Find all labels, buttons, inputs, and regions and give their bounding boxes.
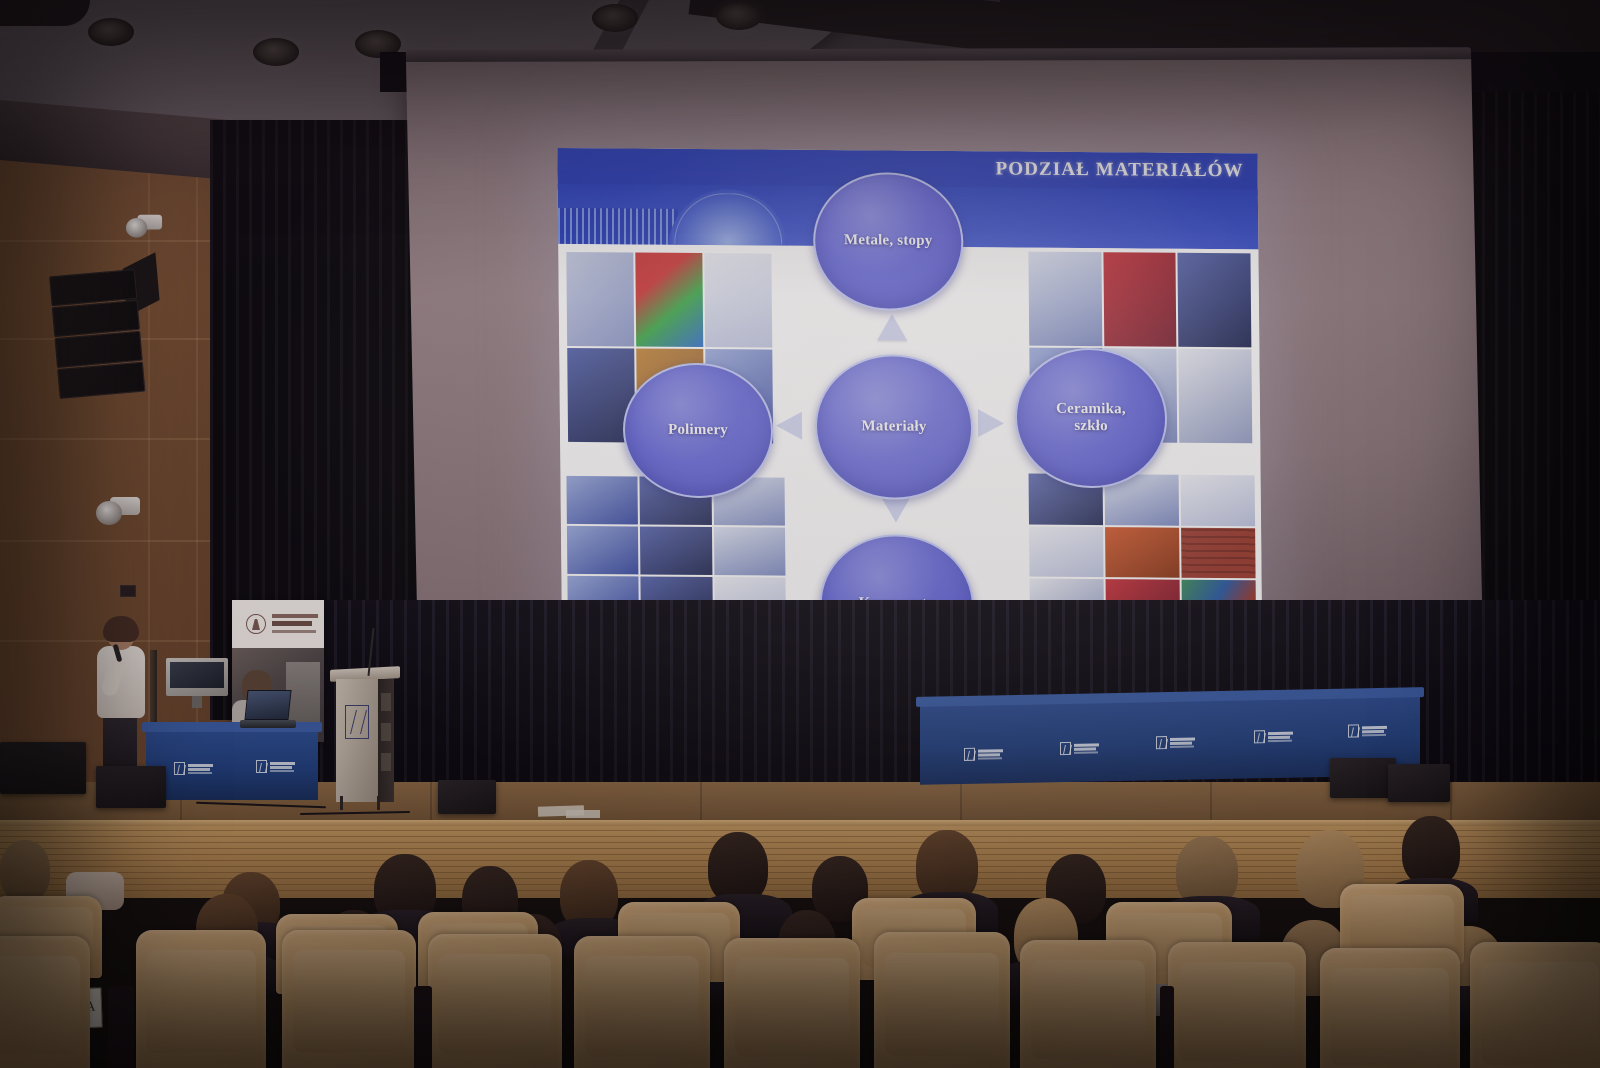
arrow-right-icon <box>978 409 1004 437</box>
floor-monitor-speaker <box>1330 758 1396 798</box>
photo-plastic-toys <box>635 253 703 348</box>
node-metals-label: Metale, stopy <box>844 233 933 251</box>
auditorium-seat <box>1470 942 1600 1068</box>
photo-engine-block <box>1105 527 1180 578</box>
lectern <box>336 668 394 802</box>
photo-fighter-jet <box>1028 252 1102 347</box>
node-ceramics-label: Ceramika, szkło <box>1056 401 1126 436</box>
downlight-icon <box>88 18 134 46</box>
auditorium-seat <box>282 930 416 1068</box>
photo-bricks <box>1181 527 1256 578</box>
auditorium-seat <box>1020 940 1156 1068</box>
downlight-icon <box>592 4 638 32</box>
university-logo-icon <box>174 762 214 775</box>
downlight-icon <box>253 38 299 66</box>
banner-logo-icon <box>246 614 266 634</box>
university-logo-icon <box>1156 736 1196 750</box>
node-ceramics-line2: szkło <box>1056 418 1126 436</box>
photo-sanitary-ware <box>1029 526 1104 577</box>
auditorium-seat <box>1168 942 1306 1068</box>
stage-monitor-display <box>166 658 228 708</box>
stadium-grille-photo <box>558 208 678 249</box>
auditorium-scene: PODZIAŁ MATERIAŁÓW <box>0 0 1600 1068</box>
auditorium-seat <box>136 930 266 1068</box>
node-ceramics-line1: Ceramika, <box>1056 401 1126 419</box>
node-polymers-label: Polimery <box>668 422 728 440</box>
photo-food-packaging <box>566 252 634 347</box>
photo-industrial-rig <box>567 526 639 575</box>
lectern-logo-icon <box>345 705 369 739</box>
photo-machinery <box>1103 252 1177 347</box>
stadium-dome-photo <box>668 189 789 250</box>
node-materials-center: Materiały <box>814 354 973 500</box>
seat-gap <box>1160 986 1174 1068</box>
line-array-speaker <box>49 268 157 416</box>
seat-gap <box>414 986 432 1068</box>
photo-athlete <box>640 526 712 575</box>
auditorium-seat <box>574 936 710 1068</box>
university-logo-icon <box>1060 741 1100 755</box>
floor-monitor-speaker <box>1388 764 1450 802</box>
university-logo-icon <box>1348 724 1388 738</box>
wall-fixture <box>120 585 136 597</box>
downlight-icon <box>716 2 762 30</box>
photo-prosthetic-leg <box>566 476 638 525</box>
stage-paper-sheet <box>566 810 600 818</box>
screen-surface: PODZIAŁ MATERIAŁÓW <box>406 59 1483 662</box>
security-camera-icon <box>96 495 140 529</box>
arrow-up-icon <box>877 314 907 340</box>
audience-head <box>0 840 50 902</box>
university-logo-icon <box>964 747 1004 761</box>
photo-medical-plastics <box>704 253 772 348</box>
auditorium-seat <box>1320 948 1460 1068</box>
auditorium-seat <box>0 936 90 1068</box>
slide-diagram-canvas: F-14 <box>558 244 1262 611</box>
node-polymers: Polimery <box>622 362 773 498</box>
presenter-laptop <box>240 690 294 734</box>
auditorium-seat <box>428 934 562 1068</box>
node-ceramics-glass: Ceramika, szkło <box>1014 347 1167 488</box>
audience-head <box>1402 816 1460 886</box>
ceiling-recess-left <box>0 0 90 26</box>
slide-title: PODZIAŁ MATERIAŁÓW <box>995 158 1243 182</box>
presenter-table <box>146 728 318 800</box>
photo-metal-rolls <box>1179 349 1253 444</box>
floor-monitor-speaker <box>0 742 86 794</box>
auditorium-seat <box>874 932 1010 1068</box>
node-metals: Metale, stopy <box>813 172 964 311</box>
arrow-down-icon <box>881 496 911 522</box>
seat-gap <box>108 986 134 1068</box>
node-materials-label: Materiały <box>861 418 926 436</box>
floor-monitor-speaker <box>96 766 166 808</box>
photo-space-shuttle <box>714 527 786 576</box>
arrow-left-icon <box>776 412 802 440</box>
photo-skeleton-implants <box>1181 475 1256 526</box>
auditorium-seat <box>724 938 860 1068</box>
security-camera-icon <box>126 213 162 241</box>
floor-monitor-speaker <box>438 780 496 814</box>
presenter-speaker <box>93 620 149 780</box>
university-logo-icon <box>256 760 296 773</box>
projection-screen: PODZIAŁ MATERIAŁÓW <box>406 59 1484 682</box>
photo-engine-parts <box>1178 253 1252 348</box>
projected-slide: PODZIAŁ MATERIAŁÓW <box>557 148 1262 633</box>
audience-seating: 0A <box>0 836 1600 1068</box>
university-logo-icon <box>1254 730 1294 744</box>
